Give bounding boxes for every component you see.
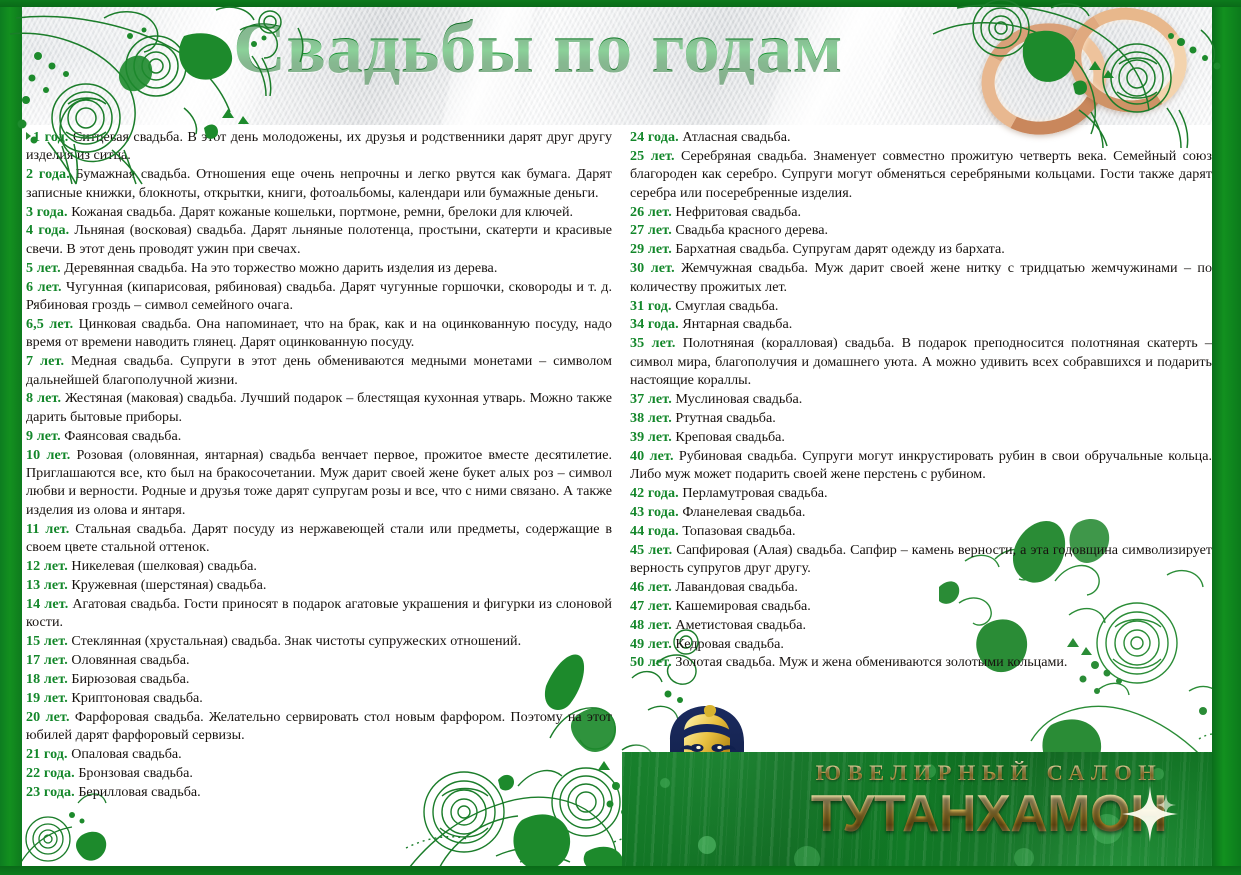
anniversary-year-label: 34 года.: [630, 316, 679, 332]
bokeh-circle: [698, 836, 716, 854]
anniversary-description: Жемчужная свадьба. Муж дарит своей жене …: [630, 260, 1212, 294]
anniversary-year-label: 37 лет.: [630, 391, 672, 407]
anniversary-entry: 10 лет. Розовая (оловянная, янтарная) св…: [26, 446, 612, 520]
anniversary-entry: 8 лет. Жестяная (маковая) свадьба. Лучши…: [26, 389, 612, 426]
anniversary-entry: 29 лет. Бархатная свадьба. Супругам даря…: [630, 240, 1212, 258]
anniversary-description: Агатовая свадьба. Гости приносят в подар…: [26, 596, 612, 630]
anniversary-year-label: 24 года.: [630, 129, 679, 145]
top-border-strip: [0, 0, 1241, 7]
wedding-rings-icon: [973, 0, 1213, 125]
anniversary-description: Ртутная свадьба.: [675, 410, 775, 426]
bokeh-circle: [1014, 848, 1034, 866]
anniversary-description: Опаловая свадьба.: [71, 746, 181, 762]
anniversary-entry: 47 лет. Кашемировая свадьба.: [630, 597, 1212, 615]
anniversary-entry: 7 лет. Медная свадьба. Супруги в этот де…: [26, 352, 612, 389]
anniversary-year-label: 35 лет.: [630, 335, 676, 351]
anniversary-year-label: 20 лет.: [26, 709, 70, 725]
anniversary-year-label: 11 лет.: [26, 521, 69, 537]
anniversary-year-label: 9 лет.: [26, 428, 61, 444]
anniversary-description: Чугунная (кипарисовая, рябиновая) свадьб…: [26, 279, 612, 313]
anniversary-description: Креповая свадьба.: [675, 429, 785, 445]
anniversary-year-label: 46 лет.: [630, 579, 672, 595]
anniversary-entry: 17 лет. Оловянная свадьба.: [26, 651, 612, 669]
anniversary-year-label: 23 года.: [26, 784, 75, 800]
anniversary-entry: 11 лет. Стальная свадьба. Дарят посуду и…: [26, 520, 612, 557]
page-title: Свадьбы по годам: [178, 10, 898, 87]
anniversary-year-label: 30 лет.: [630, 260, 675, 276]
anniversary-year-label: 18 лет.: [26, 671, 68, 687]
right-border-strip: [1212, 0, 1241, 875]
anniversary-year-label: 25 лет.: [630, 148, 675, 164]
anniversary-year-label: 10 лет.: [26, 447, 70, 463]
anniversary-description: Розовая (оловянная, янтарная) свадьба ве…: [26, 447, 612, 518]
anniversary-description: Бумажная свадьба. Отношения еще очень не…: [26, 166, 612, 200]
anniversary-year-label: 14 лет.: [26, 596, 68, 612]
anniversary-entry: 42 года. Перламутровая свадьба.: [630, 484, 1212, 502]
anniversary-year-label: 39 лет.: [630, 429, 672, 445]
anniversary-year-label: 27 лет.: [630, 222, 672, 238]
anniversary-description: Янтарная свадьба.: [682, 316, 792, 332]
anniversary-entry: 22 года. Бронзовая свадьба.: [26, 764, 612, 782]
sparkle-icon: [1122, 786, 1178, 842]
anniversary-entry: 39 лет. Креповая свадьба.: [630, 428, 1212, 446]
anniversary-entry: 26 лет. Нефритовая свадьба.: [630, 203, 1212, 221]
anniversary-entry: 44 года. Топазовая свадьба.: [630, 522, 1212, 540]
anniversary-description: Фаянсовая свадьба.: [64, 428, 181, 444]
anniversary-description: Топазовая свадьба.: [682, 523, 795, 539]
jewelry-salon-advertisement[interactable]: ЮВЕЛИРНЫЙ САЛОН ТУТАНХАМОН: [622, 752, 1212, 866]
anniversary-year-label: 49 лет.: [630, 636, 672, 652]
triangle-bullet-icon: [26, 132, 31, 140]
anniversary-entry: 6,5 лет. Цинковая свадьба. Она напоминае…: [26, 315, 612, 352]
anniversary-entry: 48 лет. Аметистовая свадьба.: [630, 616, 1212, 634]
wedding-anniversaries-poster: Свадьбы по годам: [0, 0, 1241, 875]
anniversary-year-label: 7 лет.: [26, 353, 64, 369]
anniversary-entry: 18 лет. Бирюзовая свадьба.: [26, 670, 612, 688]
bottom-border-strip: [0, 866, 1241, 875]
anniversary-entry: 3 года. Кожаная свадьба. Дарят кожаные к…: [26, 203, 612, 221]
anniversary-description: Золотая свадьба. Муж и жена обмениваются…: [675, 654, 1067, 670]
anniversary-entry: 6 лет. Чугунная (кипарисовая, рябиновая)…: [26, 278, 612, 315]
anniversary-description: Аметистовая свадьба.: [675, 617, 806, 633]
right-column: 24 года. Атласная свадьба.25 лет. Серебр…: [630, 128, 1212, 802]
anniversary-entry: 38 лет. Ртутная свадьба.: [630, 409, 1212, 427]
anniversary-entry: 9 лет. Фаянсовая свадьба.: [26, 427, 612, 445]
anniversary-year-label: 12 лет.: [26, 558, 68, 574]
anniversary-description: Кашемировая свадьба.: [675, 598, 810, 614]
anniversary-entry: 34 года. Янтарная свадьба.: [630, 315, 1212, 333]
anniversary-entry: 21 год. Опаловая свадьба.: [26, 745, 612, 763]
salon-kind-label: ЮВЕЛИРНЫЙ САЛОН: [774, 760, 1204, 786]
anniversary-year-label: 4 года.: [26, 222, 69, 238]
anniversary-description: Муслиновая свадьба.: [675, 391, 802, 407]
anniversary-year-label: 22 года.: [26, 765, 75, 781]
anniversary-year-label: 47 лет.: [630, 598, 672, 614]
anniversary-description: Льняная (восковая) свадьба. Дарят льняны…: [26, 222, 612, 256]
anniversary-year-label: 6 лет.: [26, 279, 62, 295]
anniversary-entry: 43 года. Фланелевая свадьба.: [630, 503, 1212, 521]
anniversary-description: Свадьба красного дерева.: [675, 222, 828, 238]
anniversary-description: Никелевая (шелковая) свадьба.: [71, 558, 256, 574]
anniversary-entry: 13 лет. Кружевная (шерстяная) свадьба.: [26, 576, 612, 594]
anniversary-entry: 12 лет. Никелевая (шелковая) свадьба.: [26, 557, 612, 575]
anniversary-description: Атласная свадьба.: [682, 129, 790, 145]
anniversary-year-label: 13 лет.: [26, 577, 68, 593]
anniversary-year-label: 43 года.: [630, 504, 679, 520]
anniversary-year-label: 2 года.: [26, 166, 70, 182]
anniversary-description: Ситцевая свадьба. В этот день молодожены…: [26, 129, 612, 163]
anniversary-entry: 25 лет. Серебряная свадьба. Знаменует со…: [630, 147, 1212, 202]
anniversary-description: Сапфировая (Алая) свадьба. Сапфир – каме…: [630, 542, 1212, 576]
bokeh-circle: [660, 778, 670, 788]
anniversary-year-label: 5 лет.: [26, 260, 61, 276]
anniversary-columns: 1 год. Ситцевая свадьба. В этот день мол…: [26, 128, 1212, 802]
anniversary-year-label: 19 лет.: [26, 690, 68, 706]
anniversary-year-label: 44 года.: [630, 523, 679, 539]
anniversary-year-label: 21 год.: [26, 746, 68, 762]
anniversary-description: Медная свадьба. Супруги в этот день обме…: [26, 353, 612, 387]
anniversary-description: Полотняная (коралловая) свадьба. В подар…: [630, 335, 1212, 388]
anniversary-year-label: 3 года.: [26, 204, 68, 220]
anniversary-description: Кедровая свадьба.: [675, 636, 783, 652]
anniversary-year-label: 17 лет.: [26, 652, 68, 668]
anniversary-description: Фарфоровая свадьба. Желательно сервирова…: [26, 709, 612, 743]
anniversary-description: Серебряная свадьба. Знаменует совместно …: [630, 148, 1212, 201]
anniversary-entry: 5 лет. Деревянная свадьба. На это торжес…: [26, 259, 612, 277]
anniversary-year-label: 15 лет.: [26, 633, 68, 649]
anniversary-description: Бирюзовая свадьба.: [71, 671, 189, 687]
anniversary-year-label: 6,5 лет.: [26, 316, 73, 332]
anniversary-entry: 49 лет. Кедровая свадьба.: [630, 635, 1212, 653]
anniversary-entry: 14 лет. Агатовая свадьба. Гости приносят…: [26, 595, 612, 632]
anniversary-description: Жестяная (маковая) свадьба. Лучший подар…: [26, 390, 612, 424]
anniversary-year-label: 50 лет.: [630, 654, 672, 670]
anniversary-entry: 19 лет. Криптоновая свадьба.: [26, 689, 612, 707]
anniversary-year-label: 42 года.: [630, 485, 679, 501]
anniversary-entry: 15 лет. Стеклянная (хрустальная) свадьба…: [26, 632, 612, 650]
anniversary-entry: 35 лет. Полотняная (коралловая) свадьба.…: [630, 334, 1212, 389]
anniversary-entry: 46 лет. Лавандовая свадьба.: [630, 578, 1212, 596]
anniversary-year-label: 29 лет.: [630, 241, 672, 257]
anniversary-year-label: 1 год.: [33, 129, 68, 145]
anniversary-year-label: 40 лет.: [630, 448, 674, 464]
anniversary-year-label: 45 лет.: [630, 542, 672, 558]
anniversary-description: Стеклянная (хрустальная) свадьба. Знак ч…: [71, 633, 521, 649]
anniversary-year-label: 8 лет.: [26, 390, 61, 406]
anniversary-description: Деревянная свадьба. На это торжество мож…: [64, 260, 497, 276]
anniversary-description: Берилловая свадьба.: [78, 784, 200, 800]
anniversary-description: Рубиновая свадьба. Супруги могут инкруст…: [630, 448, 1212, 482]
left-column: 1 год. Ситцевая свадьба. В этот день мол…: [26, 128, 612, 802]
anniversary-entry: 2 года. Бумажная свадьба. Отношения еще …: [26, 165, 612, 202]
anniversary-year-label: 38 лет.: [630, 410, 672, 426]
anniversary-entry: 30 лет. Жемчужная свадьба. Муж дарит сво…: [630, 259, 1212, 296]
anniversary-description: Лавандовая свадьба.: [675, 579, 798, 595]
anniversary-entry: 27 лет. Свадьба красного дерева.: [630, 221, 1212, 239]
anniversary-description: Оловянная свадьба.: [71, 652, 189, 668]
anniversary-description: Смуглая свадьба.: [675, 298, 778, 314]
anniversary-entry: 37 лет. Муслиновая свадьба.: [630, 390, 1212, 408]
anniversary-entry: 1 год. Ситцевая свадьба. В этот день мол…: [26, 128, 612, 165]
anniversary-year-label: 48 лет.: [630, 617, 672, 633]
anniversary-entry: 45 лет. Сапфировая (Алая) свадьба. Сапфи…: [630, 541, 1212, 578]
anniversary-year-label: 31 год.: [630, 298, 672, 314]
anniversary-description: Бархатная свадьба. Супругам дарят одежду…: [675, 241, 1004, 257]
anniversary-description: Кружевная (шерстяная) свадьба.: [71, 577, 266, 593]
left-border-strip: [0, 0, 22, 875]
anniversary-description: Кожаная свадьба. Дарят кожаные кошельки,…: [71, 204, 573, 220]
anniversary-description: Бронзовая свадьба.: [78, 765, 193, 781]
anniversary-entry: 20 лет. Фарфоровая свадьба. Желательно с…: [26, 708, 612, 745]
anniversary-entry: 50 лет. Золотая свадьба. Муж и жена обме…: [630, 653, 1212, 671]
anniversary-description: Криптоновая свадьба.: [71, 690, 202, 706]
anniversary-description: Цинковая свадьба. Она напоминает, что на…: [26, 316, 612, 350]
anniversary-description: Перламутровая свадьба.: [682, 485, 827, 501]
anniversary-entry: 31 год. Смуглая свадьба.: [630, 297, 1212, 315]
anniversary-description: Нефритовая свадьба.: [675, 204, 801, 220]
anniversary-entry: 24 года. Атласная свадьба.: [630, 128, 1212, 146]
anniversary-entry: 40 лет. Рубиновая свадьба. Супруги могут…: [630, 447, 1212, 484]
anniversary-description: Стальная свадьба. Дарят посуду из нержав…: [26, 521, 612, 555]
anniversary-description: Фланелевая свадьба.: [682, 504, 805, 520]
bokeh-circle: [794, 846, 820, 866]
anniversary-year-label: 26 лет.: [630, 204, 672, 220]
anniversary-entry: 23 года. Берилловая свадьба.: [26, 783, 612, 801]
anniversary-entry: 4 года. Льняная (восковая) свадьба. Даря…: [26, 221, 612, 258]
